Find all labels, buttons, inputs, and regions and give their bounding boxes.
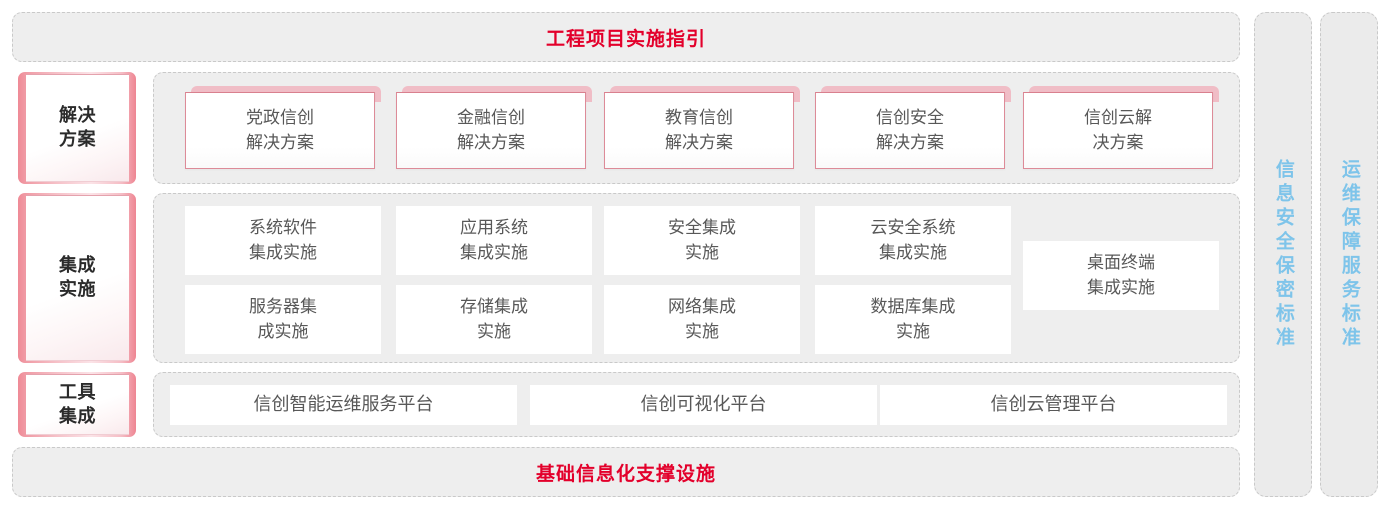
category-label-integration[interactable]: 集成 实施 xyxy=(18,193,136,363)
integration-tile-2-2[interactable]: 存储集成 实施 xyxy=(396,285,592,354)
diagram-root: 工程项目实施指引 解决 方案 党政信创 解决方案 金融信创 解决方案 xyxy=(0,0,1390,515)
integration-tile-text: 安全集成 实施 xyxy=(668,216,736,265)
category-label-tools-text: 工具 集成 xyxy=(59,381,96,429)
category-label-solutions[interactable]: 解决 方案 xyxy=(18,72,136,184)
solution-card-body: 信创云解 决方案 xyxy=(1023,92,1213,169)
tool-tile-1[interactable]: 信创智能运维服务平台 xyxy=(170,385,517,425)
tool-tile-label: 信创可视化平台 xyxy=(641,392,767,417)
integration-tile-text: 云安全系统 集成实施 xyxy=(871,216,956,265)
integration-tile-2-4[interactable]: 数据库集成 实施 xyxy=(815,285,1011,354)
integration-tile-2-3[interactable]: 网络集成 实施 xyxy=(604,285,800,354)
category-label-tools-inner: 工具 集成 xyxy=(26,374,129,435)
integration-tile-1-1[interactable]: 系统软件 集成实施 xyxy=(185,206,381,275)
solution-card-text: 信创云解 决方案 xyxy=(1084,106,1152,155)
solution-card-text: 教育信创 解决方案 xyxy=(665,106,733,155)
integration-tile-desktop-terminal[interactable]: 桌面终端 集成实施 xyxy=(1023,241,1219,310)
solution-card-body: 党政信创 解决方案 xyxy=(185,92,375,169)
side-column-ops-standard[interactable]: 运维保障服务标准 xyxy=(1320,12,1378,497)
side-column-ops-standard-label: 运维保障服务标准 xyxy=(1338,159,1360,351)
solution-card-text: 金融信创 解决方案 xyxy=(457,106,525,155)
solution-card-1[interactable]: 党政信创 解决方案 xyxy=(185,86,381,169)
tool-tile-3[interactable]: 信创云管理平台 xyxy=(880,385,1227,425)
integration-tile-text: 网络集成 实施 xyxy=(668,295,736,344)
solution-card-text: 党政信创 解决方案 xyxy=(246,106,314,155)
integration-tile-1-3[interactable]: 安全集成 实施 xyxy=(604,206,800,275)
solution-card-text: 信创安全 解决方案 xyxy=(876,106,944,155)
category-label-solutions-inner: 解决 方案 xyxy=(26,74,129,182)
integration-tile-text: 存储集成 实施 xyxy=(460,295,528,344)
solution-card-4[interactable]: 信创安全 解决方案 xyxy=(815,86,1011,169)
tool-tile-2[interactable]: 信创可视化平台 xyxy=(530,385,877,425)
integration-tile-text: 服务器集 成实施 xyxy=(249,295,317,344)
solution-card-2[interactable]: 金融信创 解决方案 xyxy=(396,86,592,169)
solution-card-body: 信创安全 解决方案 xyxy=(815,92,1005,169)
side-column-security-standard-label: 信息安全保密标准 xyxy=(1272,159,1294,351)
solution-card-3[interactable]: 教育信创 解决方案 xyxy=(604,86,800,169)
page-title: 工程项目实施指引 xyxy=(546,24,706,51)
category-label-tools[interactable]: 工具 集成 xyxy=(18,372,136,437)
category-label-solutions-text: 解决 方案 xyxy=(59,104,96,152)
category-label-integration-text: 集成 实施 xyxy=(59,254,96,302)
integration-tile-1-2[interactable]: 应用系统 集成实施 xyxy=(396,206,592,275)
solution-card-body: 金融信创 解决方案 xyxy=(396,92,586,169)
footer-title: 基础信息化支撑设施 xyxy=(536,459,716,486)
integration-tile-text: 数据库集成 实施 xyxy=(871,295,956,344)
tool-tile-label: 信创智能运维服务平台 xyxy=(254,392,434,417)
integration-tile-text: 桌面终端 集成实施 xyxy=(1087,251,1155,300)
header-band: 工程项目实施指引 xyxy=(12,12,1240,62)
solution-card-body: 教育信创 解决方案 xyxy=(604,92,794,169)
integration-tile-text: 应用系统 集成实施 xyxy=(460,216,528,265)
category-label-integration-inner: 集成 实施 xyxy=(26,195,129,361)
integration-tile-text: 系统软件 集成实施 xyxy=(249,216,317,265)
solution-card-5[interactable]: 信创云解 决方案 xyxy=(1023,86,1219,169)
side-column-security-standard[interactable]: 信息安全保密标准 xyxy=(1254,12,1312,497)
tool-tile-label: 信创云管理平台 xyxy=(991,392,1117,417)
integration-tile-2-1[interactable]: 服务器集 成实施 xyxy=(185,285,381,354)
integration-tile-1-4[interactable]: 云安全系统 集成实施 xyxy=(815,206,1011,275)
footer-band: 基础信息化支撑设施 xyxy=(12,447,1240,497)
